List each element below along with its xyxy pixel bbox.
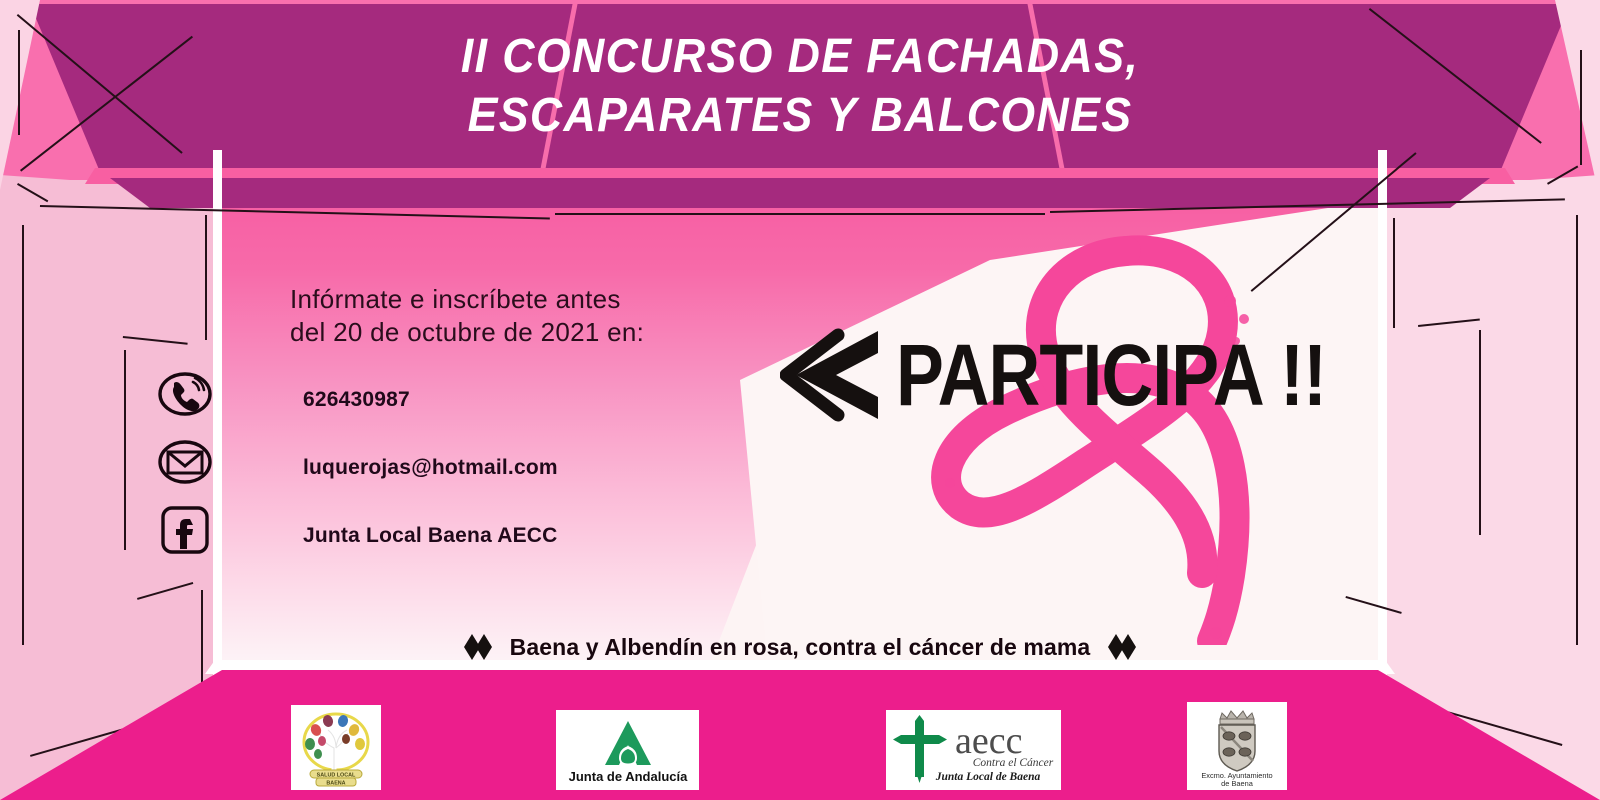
contact-row-email: luquerojas@hotmail.com <box>303 434 558 502</box>
logo-aecc-line2: Junta Local de Baena <box>934 771 1040 783</box>
sponsor-logo-row: SALUD LOCAL BAENA Junta de Andalucía <box>0 696 1600 796</box>
cta-block: PARTICIPA !! <box>780 325 1364 425</box>
sketch-line-r6 <box>1393 218 1395 328</box>
logo-aecc-line1: Contra el Cáncer <box>972 757 1053 769</box>
sketch-line-r8 <box>1479 330 1481 535</box>
diamond-chevron-left-ornament-icon <box>462 632 496 662</box>
logo-salud-local-baena: SALUD LOCAL BAENA <box>291 705 381 790</box>
logo-salud-line2: BAENA <box>326 780 345 786</box>
logo-junta-de-andalucia: Junta de Andalucía <box>556 710 699 790</box>
cta-label: PARTICIPA !! <box>896 331 1326 418</box>
sketch-line-r5 <box>1576 215 1578 645</box>
sketch-line-awn-c <box>555 213 1045 215</box>
intro-text: Infórmate e inscríbete antes del 20 de o… <box>290 283 644 350</box>
title-line-1: II CONCURSO DE FACHADAS, <box>56 28 1544 87</box>
contact-list: 626430987 luquerojas@hotmail.com Junta L… <box>303 366 558 570</box>
poster-canvas: II CONCURSO DE FACHADAS, ESCAPARATES Y B… <box>0 0 1600 800</box>
facebook-icon <box>159 505 211 555</box>
contact-value-email: luquerojas@hotmail.com <box>303 456 558 480</box>
tree-health-logo-icon: SALUD LOCAL BAENA <box>294 708 378 788</box>
tagline-text: Baena y Albendín en rosa, contra el cánc… <box>510 634 1091 661</box>
sketch-line-l6 <box>205 215 207 340</box>
baena-coat-of-arms-icon: Excmo. Ayuntamiento de Baena <box>1190 705 1284 787</box>
sketch-line-l3 <box>18 30 20 135</box>
envelope-icon <box>157 439 213 485</box>
junta-andalucia-logo-icon: Junta de Andalucía <box>559 713 697 787</box>
logo-junta-caption: Junta de Andalucía <box>568 769 687 784</box>
facebook-icon-wrapper <box>155 496 215 564</box>
logo-salud-line1: SALUD LOCAL <box>317 772 356 778</box>
logo-ayuntamiento-de-baena: Excmo. Ayuntamiento de Baena <box>1187 702 1287 790</box>
envelope-icon-wrapper <box>155 428 215 496</box>
page-title: II CONCURSO DE FACHADAS, ESCAPARATES Y B… <box>56 28 1544 145</box>
sketch-line-l8 <box>124 350 126 550</box>
chevron-left-icon <box>780 325 890 425</box>
phone-icon <box>157 371 213 417</box>
logo-aecc: aecc Contra el Cáncer Junta Local de Bae… <box>886 710 1061 790</box>
contact-icon-column <box>155 360 215 564</box>
intro-line-2: del 20 de octubre de 2021 en: <box>290 316 644 349</box>
intro-line-1: Infórmate e inscríbete antes <box>290 283 644 316</box>
contact-row-phone: 626430987 <box>303 366 558 434</box>
phone-icon-wrapper <box>155 360 215 428</box>
contact-value-facebook: Junta Local Baena AECC <box>303 524 558 548</box>
tagline-block: Baena y Albendín en rosa, contra el cánc… <box>0 632 1600 662</box>
awning-lower-lip <box>0 178 1600 212</box>
sketch-line-r3 <box>1580 50 1582 165</box>
logo-aecc-wordmark: aecc <box>955 720 1022 762</box>
diamond-chevron-right-ornament-icon <box>1104 632 1138 662</box>
logo-ayto-line2: de Baena <box>1221 779 1254 787</box>
aecc-logo-icon: aecc Contra el Cáncer Junta Local de Bae… <box>889 713 1059 787</box>
contact-row-facebook: Junta Local Baena AECC <box>303 502 558 570</box>
title-line-2: ESCAPARATES Y BALCONES <box>56 87 1544 146</box>
sketch-line-l5 <box>22 225 24 645</box>
contact-value-phone: 626430987 <box>303 388 410 412</box>
